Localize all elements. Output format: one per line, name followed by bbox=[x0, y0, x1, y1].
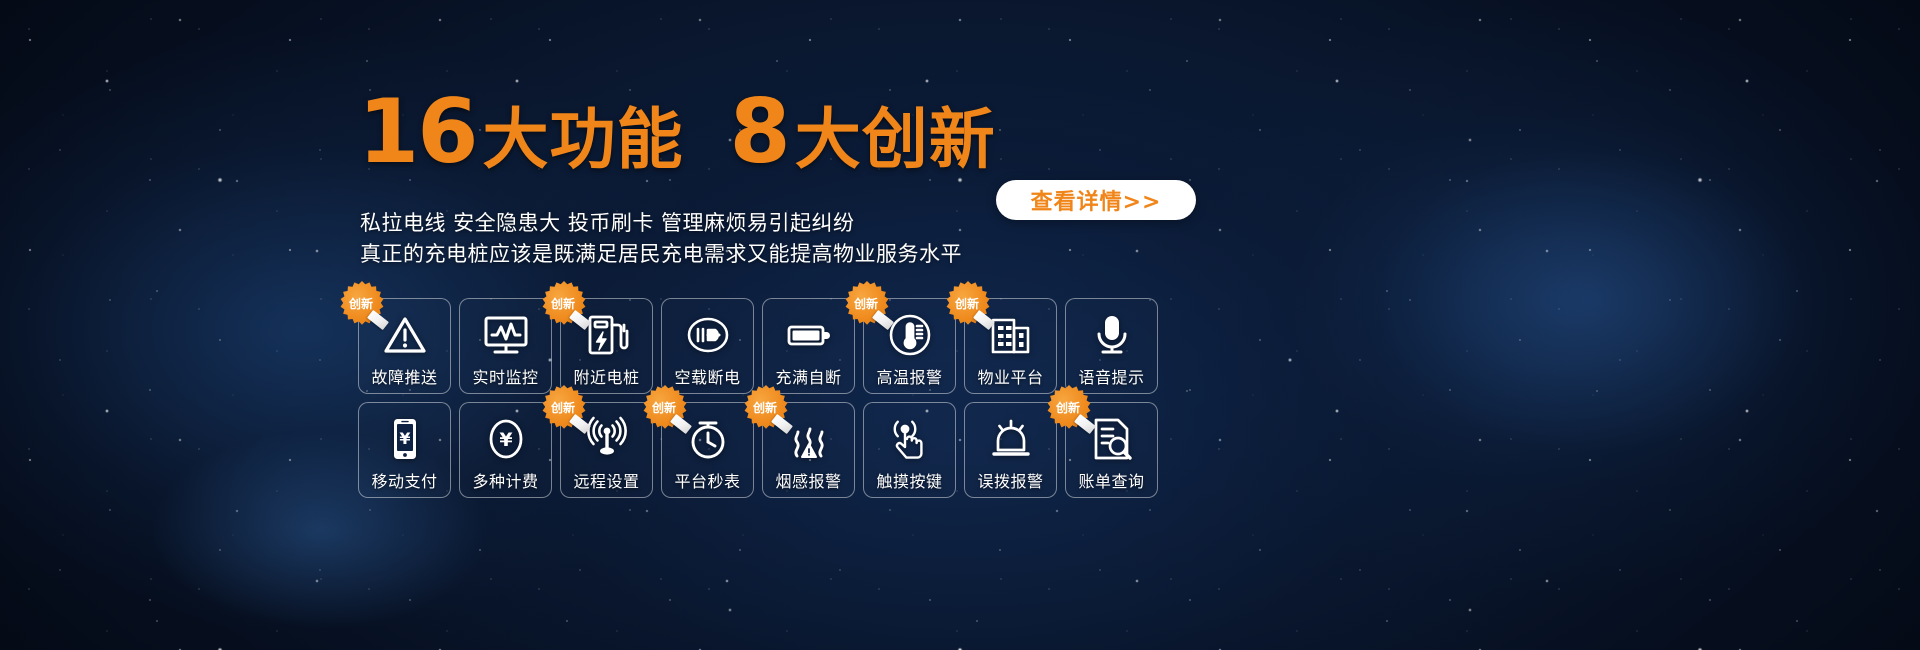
building-icon bbox=[987, 311, 1035, 359]
feature-card-label: 实时监控 bbox=[472, 364, 538, 388]
feature-grid: 创新故障推送实时监控创新附近电桩空载断电充满自断创新高温报警创新物业平台语音提示… bbox=[358, 298, 1158, 498]
subtitle-block: 私拉电线 安全隐患大 投币刷卡 管理麻烦易引起纠纷 真正的充电桩应该是既满足居民… bbox=[360, 208, 962, 270]
smoke-alarm-icon bbox=[785, 415, 833, 463]
stopwatch-icon bbox=[684, 415, 732, 463]
feature-card-plug-disconnect[interactable]: 空载断电 bbox=[661, 298, 754, 394]
feature-card-label: 远程设置 bbox=[573, 468, 639, 492]
plug-disconnect-icon bbox=[684, 311, 732, 359]
feature-card-warning-triangle[interactable]: 创新故障推送 bbox=[358, 298, 451, 394]
antenna-signal-icon bbox=[583, 415, 631, 463]
feature-card-smoke-alarm[interactable]: 创新烟感报警 bbox=[762, 402, 855, 498]
alarm-bell-icon bbox=[987, 415, 1035, 463]
feature-card-alarm-bell[interactable]: 误拨报警 bbox=[964, 402, 1057, 498]
feature-card-label: 语音提示 bbox=[1078, 364, 1144, 388]
feature-card-stopwatch[interactable]: 创新平台秒表 bbox=[661, 402, 754, 498]
feature-card-building[interactable]: 创新物业平台 bbox=[964, 298, 1057, 394]
bill-search-icon bbox=[1088, 415, 1136, 463]
headline-text-1: 大功能 bbox=[482, 107, 683, 173]
headline-number-1: 16 bbox=[358, 88, 476, 176]
feature-card-antenna-signal[interactable]: 创新远程设置 bbox=[560, 402, 653, 498]
banner-stage: 16 大功能 8 大创新 查看详情>> 私拉电线 安全隐患大 投币刷卡 管理麻烦… bbox=[0, 0, 1920, 650]
innovation-badge: 创新 bbox=[339, 281, 385, 327]
starburst-shape bbox=[339, 281, 385, 327]
feature-card-mobile-payment[interactable]: ¥移动支付 bbox=[358, 402, 451, 498]
microphone-icon bbox=[1088, 311, 1136, 359]
mobile-payment-icon: ¥ bbox=[381, 415, 429, 463]
headline-number-2: 8 bbox=[729, 88, 788, 176]
feature-card-label: 高温报警 bbox=[876, 364, 942, 388]
feature-card-bill-search[interactable]: 创新账单查询 bbox=[1065, 402, 1158, 498]
feature-card-label: 物业平台 bbox=[977, 364, 1043, 388]
feature-card-label: 账单查询 bbox=[1078, 468, 1144, 492]
feature-card-label: 充满自断 bbox=[775, 364, 841, 388]
innovation-badge-label: 创新 bbox=[339, 281, 385, 327]
svg-text:¥: ¥ bbox=[399, 429, 410, 448]
feature-card-monitor-waveform[interactable]: 实时监控 bbox=[459, 298, 552, 394]
warning-triangle-icon bbox=[381, 311, 429, 359]
subtitle-line-2: 真正的充电桩应该是既满足居民充电需求又能提高物业服务水平 bbox=[360, 239, 962, 270]
subtitle-line-1: 私拉电线 安全隐患大 投币刷卡 管理麻烦易引起纠纷 bbox=[360, 208, 962, 239]
headline-text-2: 大创新 bbox=[795, 107, 996, 173]
feature-card-battery-full[interactable]: 充满自断 bbox=[762, 298, 855, 394]
feature-row-2: ¥移动支付¥多种计费创新远程设置创新平台秒表创新烟感报警触摸按键误拨报警创新账单… bbox=[358, 402, 1158, 498]
view-details-button[interactable]: 查看详情>> bbox=[996, 180, 1196, 220]
feature-card-label: 故障推送 bbox=[371, 364, 437, 388]
feature-card-yuan-coin[interactable]: ¥多种计费 bbox=[459, 402, 552, 498]
feature-card-label: 烟感报警 bbox=[775, 468, 841, 492]
feature-card-label: 触摸按键 bbox=[876, 468, 942, 492]
feature-card-touch-hand[interactable]: 触摸按键 bbox=[863, 402, 956, 498]
thermometer-icon bbox=[886, 311, 934, 359]
charging-pile-icon bbox=[583, 311, 631, 359]
feature-card-label: 空载断电 bbox=[674, 364, 740, 388]
feature-row-1: 创新故障推送实时监控创新附近电桩空载断电充满自断创新高温报警创新物业平台语音提示 bbox=[358, 298, 1158, 394]
feature-card-label: 平台秒表 bbox=[674, 468, 740, 492]
feature-card-microphone[interactable]: 语音提示 bbox=[1065, 298, 1158, 394]
banner-content: 16 大功能 8 大创新 查看详情>> 私拉电线 安全隐患大 投币刷卡 管理麻烦… bbox=[0, 0, 1920, 650]
feature-card-charging-pile[interactable]: 创新附近电桩 bbox=[560, 298, 653, 394]
yuan-coin-icon: ¥ bbox=[482, 415, 530, 463]
feature-card-thermometer[interactable]: 创新高温报警 bbox=[863, 298, 956, 394]
battery-full-icon bbox=[785, 311, 833, 359]
feature-card-label: 误拨报警 bbox=[977, 468, 1043, 492]
feature-card-label: 多种计费 bbox=[472, 468, 538, 492]
touch-hand-icon bbox=[886, 415, 934, 463]
monitor-waveform-icon bbox=[482, 311, 530, 359]
feature-card-label: 附近电桩 bbox=[573, 364, 639, 388]
svg-text:¥: ¥ bbox=[499, 429, 512, 451]
page-title: 16 大功能 8 大创新 bbox=[358, 88, 996, 176]
feature-card-label: 移动支付 bbox=[371, 468, 437, 492]
